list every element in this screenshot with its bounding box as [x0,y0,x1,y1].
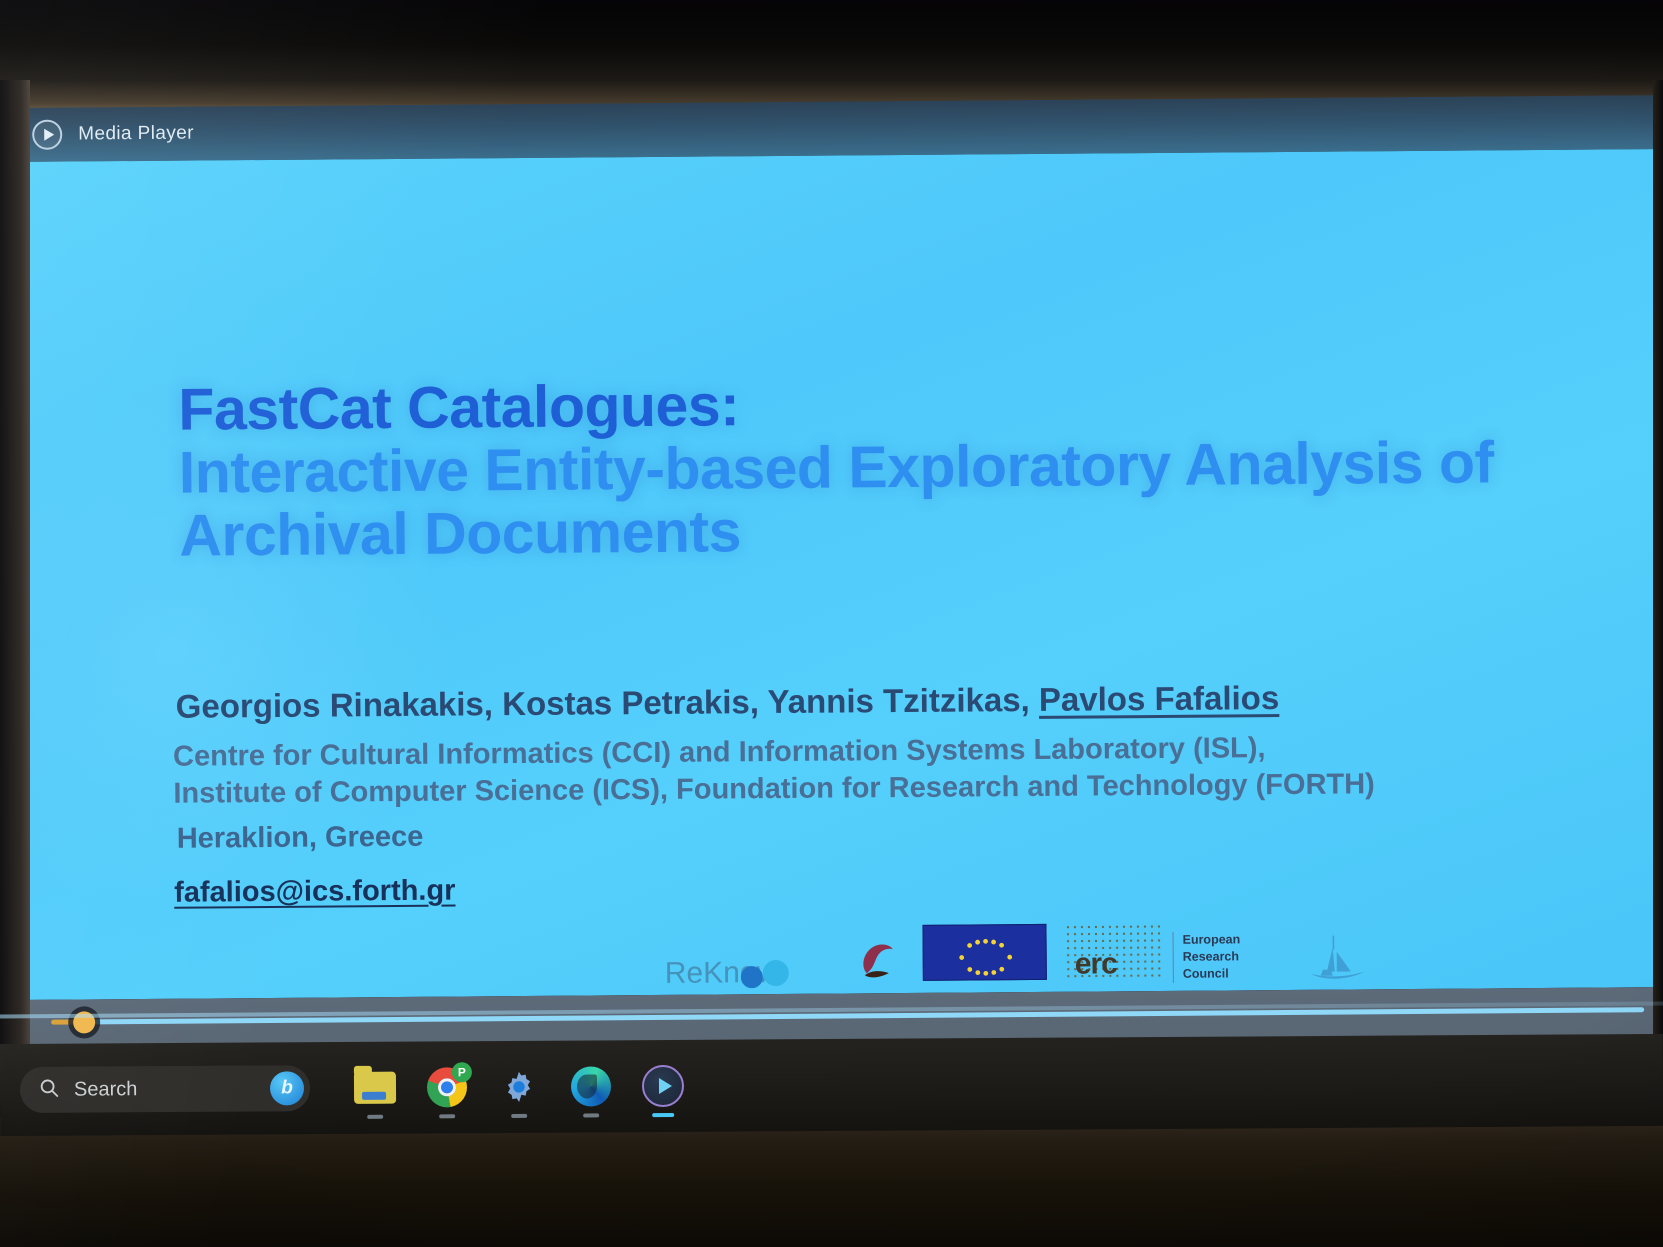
ship-logo [1280,925,1400,982]
slide-logo-strip: ReKnow [664,916,1304,987]
presentation-slide: FastCat Catalogues: Interactive Entity-b… [8,149,1663,1000]
erc-wordmark-text: erc [1075,947,1117,981]
app-title: Media Player [78,123,194,146]
slide-location: Heraklion, Greece [177,821,424,856]
bing-copilot-icon[interactable]: b [270,1071,304,1105]
slide-title-line-2: Interactive Entity-based Exploratory Ana… [179,431,1599,505]
erc-word-line-1: European [1183,932,1241,949]
active-indicator [652,1113,674,1117]
folder-icon [354,1072,396,1104]
authors-plain: Georgios Rinakakis, Kostas Petrakis, Yan… [176,681,1040,725]
erc-word-line-3: Council [1183,965,1241,982]
media-player-icon [642,1065,684,1107]
taskbar-media-player[interactable] [638,1061,688,1111]
taskbar-edge[interactable] [566,1061,616,1111]
slide-authors: Georgios Rinakakis, Kostas Petrakis, Yan… [176,677,1576,726]
seek-bar[interactable] [15,995,1663,1036]
slide-title-line-3: Archival Documents [179,494,1599,568]
slide-email: fafalios@ics.forth.gr [174,875,456,910]
search-icon [38,1076,60,1103]
monitor-bezel-left [0,80,30,1090]
erc-word-line-2: Research [1183,949,1241,966]
seek-thumb[interactable] [73,1011,95,1033]
screen-content: Media Player FastCat Catalogues: Interac… [8,95,1663,1133]
slide-title: FastCat Catalogues: Interactive Entity-b… [178,368,1599,569]
running-indicator [511,1114,527,1118]
running-indicator [583,1113,599,1117]
eu-flag-logo [922,924,1046,981]
search-input[interactable]: Search b [20,1065,310,1113]
erc-council-wordmark: European Research Council [1173,932,1241,983]
taskbar-settings[interactable] [494,1062,544,1112]
search-placeholder-label: Search [74,1078,138,1101]
running-indicator [367,1115,383,1119]
monitor-bezel-top [0,0,1663,112]
windows-taskbar: Search b P [0,1034,1663,1136]
gear-icon [500,1068,538,1106]
seek-track[interactable] [93,1007,1644,1024]
presenting-author: Pavlos Fafalios [1039,679,1280,718]
running-indicator [439,1114,455,1118]
forth-f-logo [850,927,906,983]
chrome-icon: P [427,1067,467,1107]
photographed-screen-scene: Media Player FastCat Catalogues: Interac… [0,0,1663,1247]
taskbar-chrome[interactable]: P [422,1062,472,1112]
taskbar-file-explorer[interactable] [350,1063,400,1113]
slide-affiliation: Centre for Cultural Informatics (CCI) an… [173,727,1634,813]
taskbar-items: P [350,1061,688,1113]
monitor-bezel-right [1653,80,1663,1090]
chrome-profile-badge: P [452,1062,472,1082]
desk-surface [0,1117,1663,1247]
play-circle-icon [32,120,62,150]
erc-logo: erc [1064,923,1160,982]
edge-icon [571,1066,611,1106]
